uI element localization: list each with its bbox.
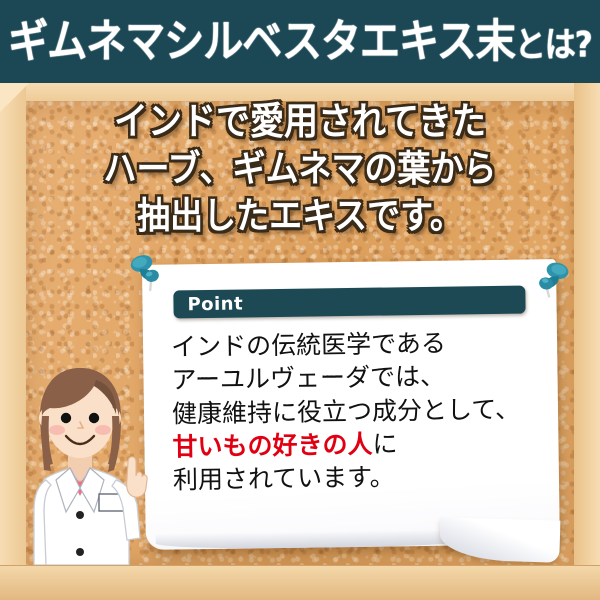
eye-right xyxy=(89,413,99,423)
note-paper-bottom-shade xyxy=(156,529,486,550)
eye-left xyxy=(61,413,71,423)
note-line-2: アーユルヴェーダでは、 xyxy=(171,358,551,397)
frame-right-edge xyxy=(574,83,600,600)
note-line-4: 甘いもの好きの人に xyxy=(172,425,552,464)
page-title-main: ギムネマシルベスタエキス末 xyxy=(8,16,515,68)
cork-headline-line-1: インドで愛用されてきた xyxy=(0,102,600,142)
note-paper-curled-corner xyxy=(439,517,560,563)
point-header-bar: Point xyxy=(173,286,525,319)
cheek-left xyxy=(49,425,65,435)
cork-headline: インドで愛用されてきた ハーブ、ギムネマの葉から 抽出したエキスです。 xyxy=(0,104,600,234)
frame-left-edge xyxy=(0,83,26,600)
note-line-3: 健康維持に役立つ成分として、 xyxy=(172,392,552,431)
coat-button-bottom xyxy=(76,548,84,556)
point-note-card: Point インドの伝統医学である アーユルヴェーダでは、 健康維持に役立つ成分… xyxy=(142,259,560,562)
note-highlight-phrase: 甘いもの好きの人 xyxy=(172,429,372,461)
note-highlight-tail: に xyxy=(372,429,397,458)
frame-bottom-edge xyxy=(0,565,600,600)
point-label: Point xyxy=(187,293,243,315)
header-band: ギムネマシルベスタエキス末とは? xyxy=(0,0,600,83)
infographic-canvas: ギムネマシルベスタエキス末とは? インドで愛用されてきた ハーブ、ギムネマの葉か… xyxy=(0,0,600,600)
cork-headline-line-3: 抽出したエキスです。 xyxy=(0,197,600,235)
cork-headline-line-2: ハーブ、ギムネマの葉から xyxy=(0,150,600,188)
page-title-suffix: とは? xyxy=(515,25,592,65)
frame-bevel-corner xyxy=(0,83,34,113)
pointing-hand xyxy=(127,457,147,497)
note-line-5: 利用されています。 xyxy=(173,458,553,497)
note-body-text: インドの伝統医学である アーユルヴェーダでは、 健康維持に役立つ成分として、 甘… xyxy=(171,325,553,497)
note-paper: Point インドの伝統医学である アーユルヴェーダでは、 健康維持に役立つ成分… xyxy=(142,259,560,550)
cheek-right xyxy=(95,425,111,435)
coat-button-top xyxy=(76,511,84,519)
woman-pharmacist-illustration xyxy=(24,360,184,565)
note-line-1: インドの伝統医学である xyxy=(171,325,551,364)
page-title: ギムネマシルベスタエキス末とは? xyxy=(8,19,592,64)
